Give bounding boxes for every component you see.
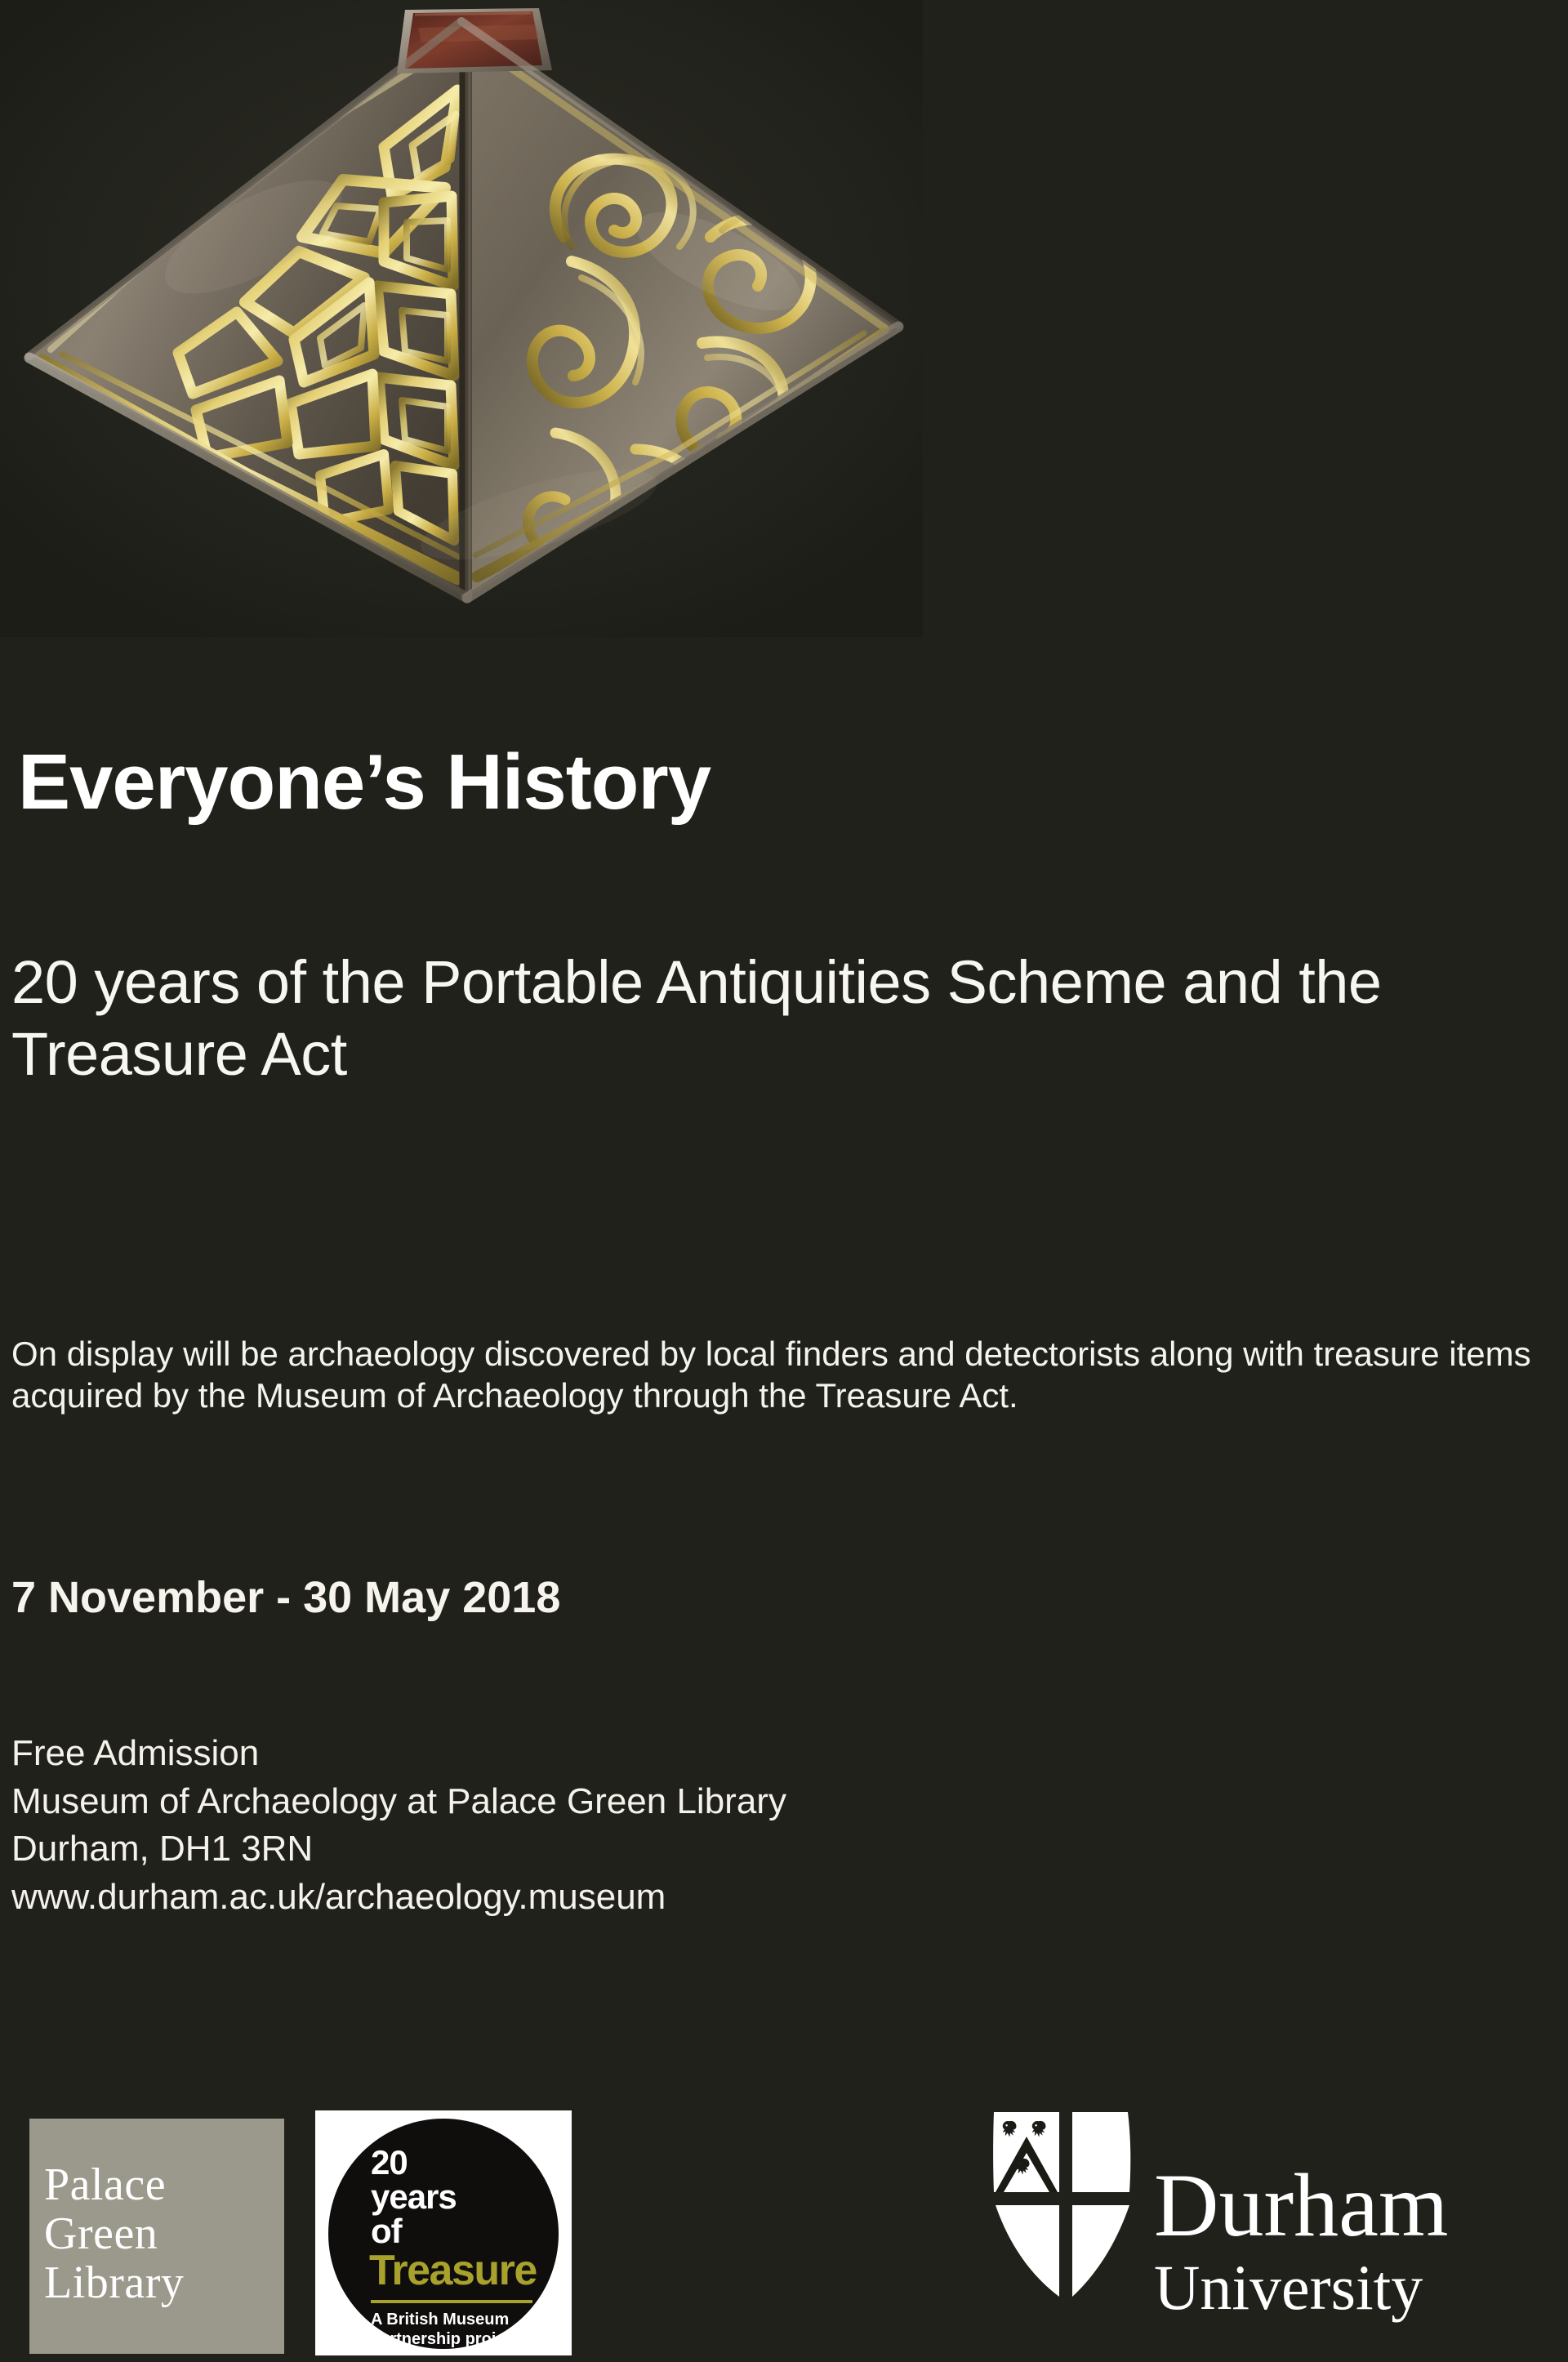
treasure-strapline: A British Museum partnership project [371,2310,519,2349]
exhibition-description: On display will be archaeology discovere… [11,1333,1547,1416]
treasure-strapline-line-2: partnership project [371,2329,519,2349]
durham-university-wordmark: Durham University [1154,2163,1448,2320]
website-line[interactable]: www.durham.ac.uk/archaeology.museum [11,1874,1400,1922]
palace-green-library-wordmark: Palace Green Library [44,2161,184,2308]
treasure-roundel: 20 years of Treasure A British Museum pa… [328,2119,559,2349]
venue-details: Free Admission Museum of Archaeology at … [11,1730,1400,1921]
treasure-line-of: of [371,2215,402,2248]
page-subtitle: 20 years of the Portable Antiquities Sch… [11,947,1416,1090]
admission-line: Free Admission [11,1730,1400,1778]
palace-green-library-logo[interactable]: Palace Green Library [29,2119,284,2354]
20-years-of-treasure-logo[interactable]: 20 years of Treasure A British Museum pa… [315,2110,572,2355]
treasure-strapline-line-1: A British Museum [371,2310,519,2329]
treasure-line-years: years [371,2181,457,2213]
durham-wordmark-line-2: University [1154,2256,1448,2320]
page-title: Everyone’s History [18,743,710,822]
treasure-line-20: 20 [371,2146,408,2179]
durham-university-logo[interactable]: Durham University [984,2107,1556,2360]
pgl-line-1: Palace [44,2161,184,2210]
pgl-line-2: Green [44,2210,184,2259]
treasure-wordmark: Treasure [369,2249,537,2292]
venue-line: Museum of Archaeology at Palace Green Li… [11,1778,1400,1826]
treasure-divider-rule [371,2300,532,2303]
exhibition-dates: 7 November - 30 May 2018 [11,1572,560,1623]
exhibition-poster: Everyone’s History 20 years of the Porta… [0,0,1568,2362]
durham-shield-crest [984,2107,1147,2303]
pgl-line-3: Library [44,2259,184,2308]
durham-wordmark-line-1: Durham [1154,2163,1448,2249]
address-line: Durham, DH1 3RN [11,1825,1400,1874]
logo-row: Palace Green Library 20 years of Treasur… [0,2099,1568,2360]
anglo-saxon-pyramid-sword-fitting-photo [0,0,923,637]
